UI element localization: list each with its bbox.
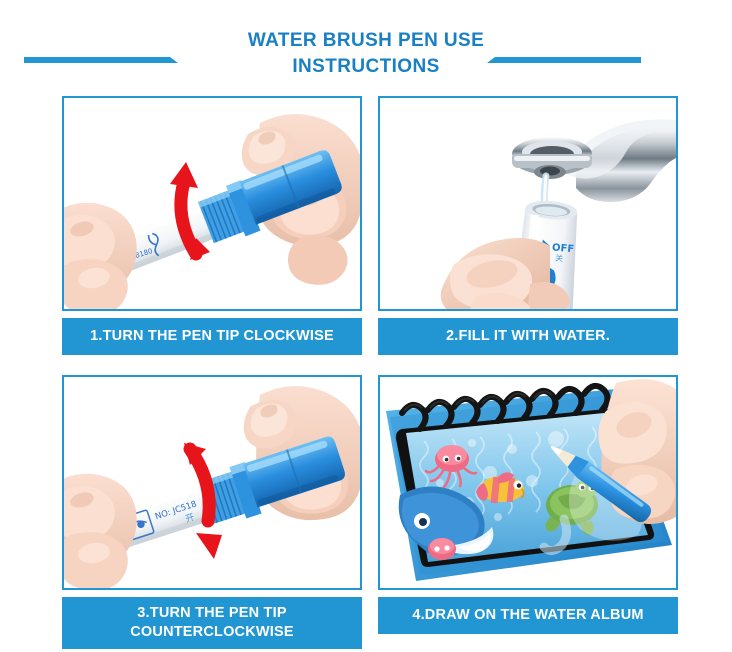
step-3-caption-line-2: COUNTERCLOCKWISE [62,623,362,642]
step-4-caption-line-1: 4.DRAW ON THE WATER ALBUM [378,606,678,625]
step-2-caption-line-1: 2.FILL IT WITH WATER. [378,327,678,346]
left-hand [64,203,137,309]
step-panel-2: OFF 关 [378,96,678,355]
left-hand [64,474,137,588]
step-1-photo: 8180 [62,96,362,311]
header: WATER BRUSH PEN USE INSTRUCTIONS [0,0,732,96]
step-panel-4: 4.DRAW ON THE WATER ALBUM [378,375,678,634]
step-1-caption-line-1: 1.TURN THE PEN TIP CLOCKWISE [62,327,362,346]
step-3-caption: 3.TURN THE PEN TIP COUNTERCLOCKWISE [62,597,362,649]
steps-grid: 8180 [0,96,732,652]
step-3-photo: NO: JC518 开 [62,375,362,590]
step-3-caption-line-1: 3.TURN THE PEN TIP [62,604,362,623]
octopus-illustration-2 [428,538,456,560]
step-1-caption: 1.TURN THE PEN TIP CLOCKWISE [62,318,362,355]
page-title-line-2: INSTRUCTIONS [0,54,732,80]
step-4-caption: 4.DRAW ON THE WATER ALBUM [378,597,678,634]
step-4-photo [378,375,678,590]
step-panel-1: 8180 [62,96,362,355]
page-title-line-1: WATER BRUSH PEN USE [0,28,732,54]
step-panel-3: NO: JC518 开 [62,375,362,649]
page-title: WATER BRUSH PEN USE INSTRUCTIONS [0,28,732,80]
step-2-photo: OFF 关 [378,96,678,311]
infographic-page: WATER BRUSH PEN USE INSTRUCTIONS [0,0,732,652]
step-2-caption: 2.FILL IT WITH WATER. [378,318,678,355]
pen-label-cn-text: 关 [555,253,564,264]
